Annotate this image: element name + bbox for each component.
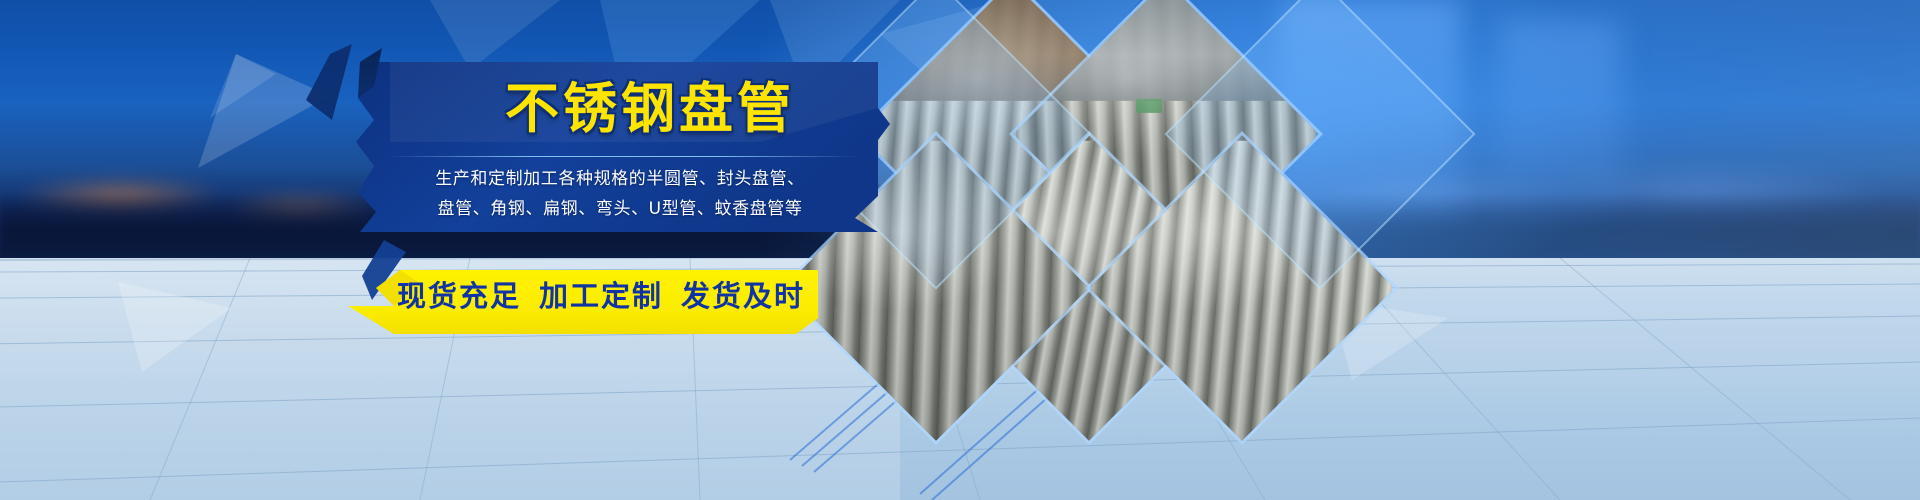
slogan-ribbon-shape bbox=[348, 256, 818, 336]
product-photo-collage bbox=[826, 0, 1306, 500]
product-banner: 不锈钢盘管 生产和定制加工各种规格的半圆管、封头盘管、 盘管、角钢、扁钢、弯头、… bbox=[0, 0, 1920, 500]
headline-ribbon-shape bbox=[330, 46, 890, 251]
